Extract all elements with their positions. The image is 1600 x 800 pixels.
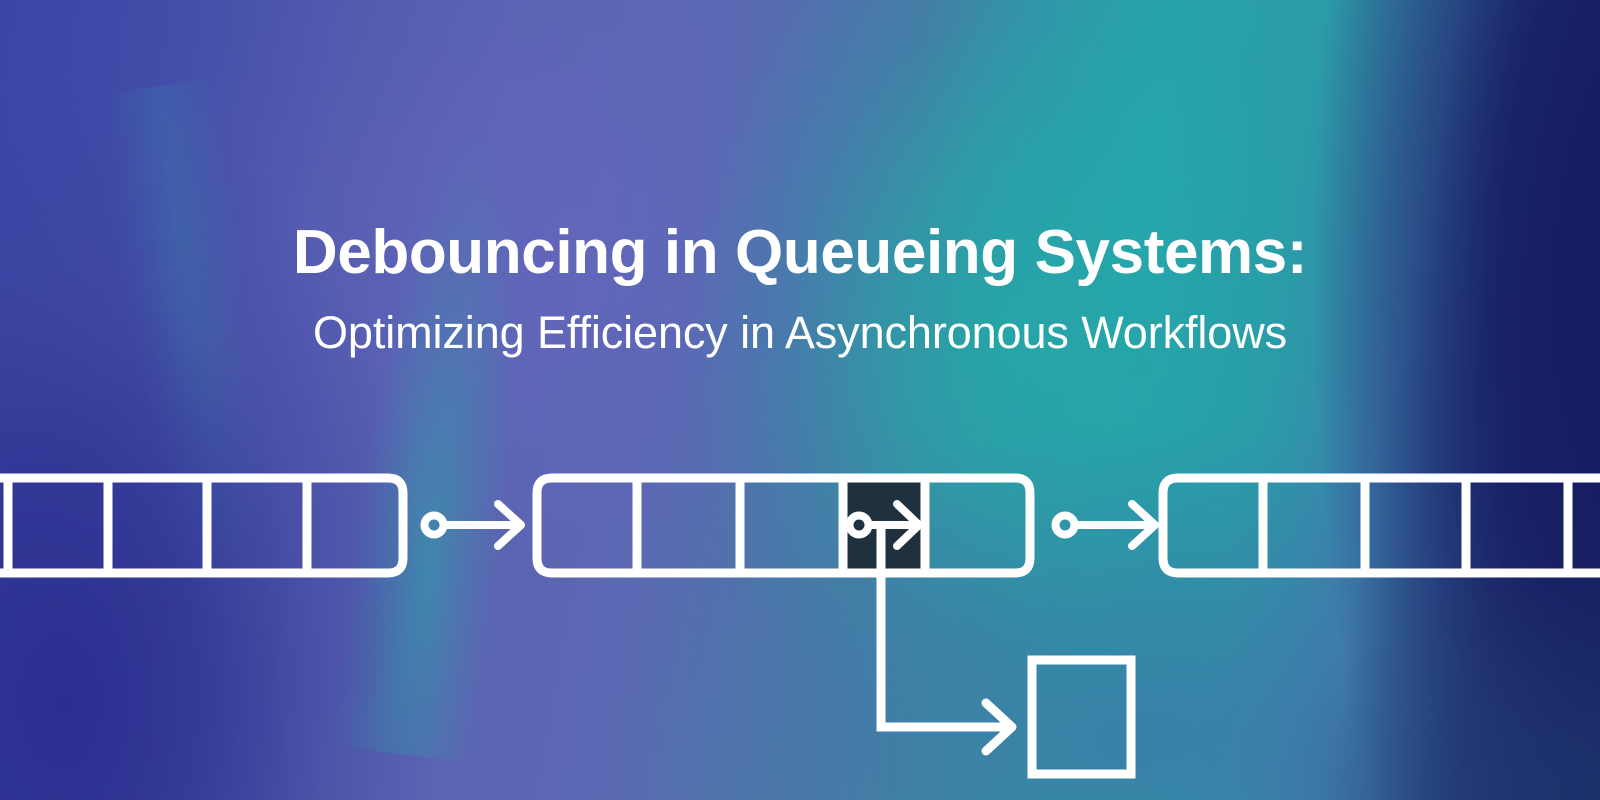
queue-left [0, 478, 403, 573]
connector-3 [1056, 504, 1156, 546]
diagram-canvas [0, 0, 1600, 800]
hero-banner: Debouncing in Queueing Systems: Optimizi… [0, 0, 1600, 800]
output-box-frame [1032, 660, 1131, 774]
queue-pipeline-diagram [0, 0, 1600, 800]
queue-left-frame [0, 478, 403, 573]
queue-right-frame [1163, 478, 1600, 573]
queue-middle-frame [537, 478, 1030, 573]
queue-middle [537, 474, 1030, 577]
queue-right [1163, 478, 1600, 573]
connector-1-circle-icon [425, 516, 444, 535]
output-box [1032, 660, 1131, 774]
connector-1 [425, 504, 522, 546]
connector-3-circle-icon [1056, 516, 1075, 535]
